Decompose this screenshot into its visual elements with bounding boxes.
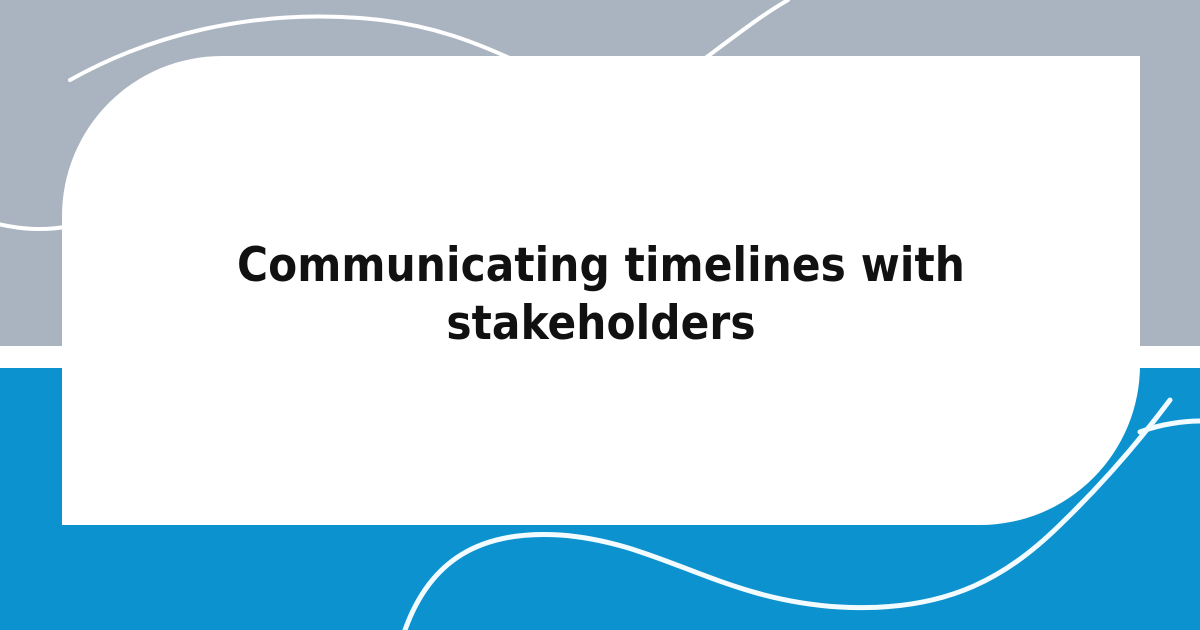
card-title-area: Communicating timelines with stakeholder… (62, 56, 1140, 525)
social-card-canvas: Communicating timelines with stakeholder… (0, 0, 1200, 630)
page-title: Communicating timelines with stakeholder… (132, 237, 1070, 352)
